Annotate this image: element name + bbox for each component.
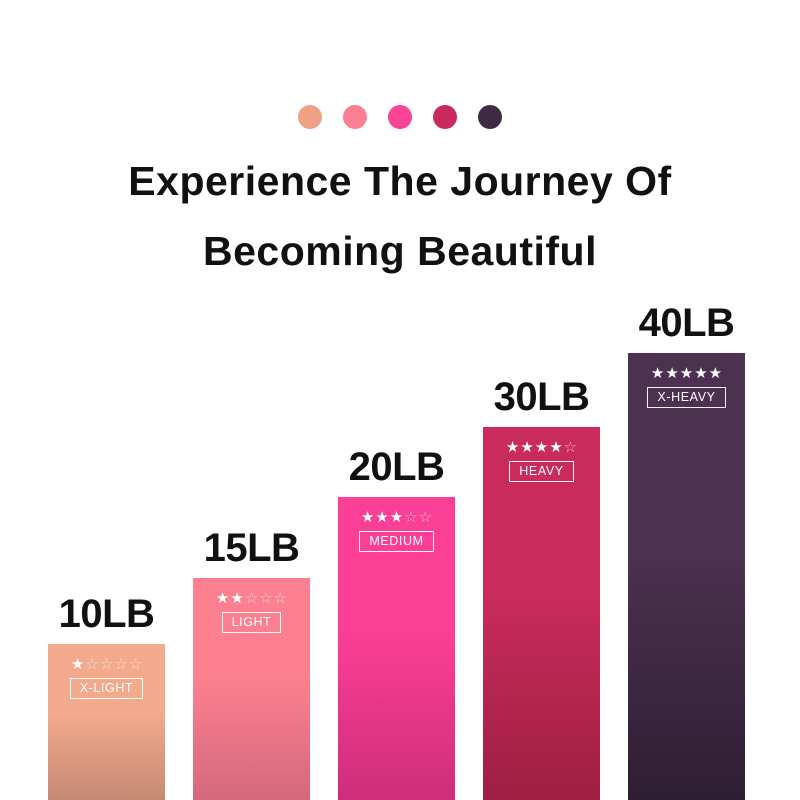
star-empty-icon: ☆: [114, 657, 127, 672]
bar-content: ★★☆☆☆LIGHT: [193, 591, 310, 633]
star-filled-icon: ★: [651, 366, 664, 381]
bar-group: 40LB★★★★★X-HEAVY: [628, 295, 745, 800]
bar-column: ★★☆☆☆LIGHT: [193, 578, 310, 800]
star-empty-icon: ☆: [564, 440, 577, 455]
bar-group: 30LB★★★★☆HEAVY: [483, 369, 600, 800]
bar-column: ★★★★☆HEAVY: [483, 427, 600, 800]
bar-weight-label: 30LB: [483, 377, 600, 417]
star-filled-icon: ★: [71, 657, 84, 672]
bar-weight-label: 20LB: [338, 447, 455, 487]
bar-group: 15LB★★☆☆☆LIGHT: [193, 520, 310, 800]
level-badge: HEAVY: [509, 461, 573, 482]
bar-column: ★☆☆☆☆X-LIGHT: [48, 644, 165, 800]
star-empty-icon: ☆: [245, 591, 258, 606]
star-empty-icon: ☆: [259, 591, 272, 606]
bar-content: ★★★☆☆MEDIUM: [338, 510, 455, 552]
star-empty-icon: ☆: [274, 591, 287, 606]
star-filled-icon: ★: [216, 591, 229, 606]
bar-content: ★★★★☆HEAVY: [483, 440, 600, 482]
star-filled-icon: ★: [694, 366, 707, 381]
star-empty-icon: ☆: [100, 657, 113, 672]
bar-column: ★★★☆☆MEDIUM: [338, 497, 455, 800]
star-rating: ★☆☆☆☆: [71, 657, 142, 672]
level-badge: LIGHT: [222, 612, 282, 633]
star-rating: ★★☆☆☆: [216, 591, 287, 606]
level-badge: X-HEAVY: [647, 387, 725, 408]
star-filled-icon: ★: [549, 440, 562, 455]
resistance-band-bar-chart: 10LB★☆☆☆☆X-LIGHT15LB★★☆☆☆LIGHT20LB★★★☆☆M…: [0, 0, 800, 800]
star-filled-icon: ★: [361, 510, 374, 525]
level-badge: MEDIUM: [359, 531, 433, 552]
bar-content: ★★★★★X-HEAVY: [628, 366, 745, 408]
bar-fill: [628, 353, 745, 800]
star-filled-icon: ★: [680, 366, 693, 381]
star-empty-icon: ☆: [419, 510, 432, 525]
promo-graphic: Experience The Journey Of Becoming Beaut…: [0, 0, 800, 800]
star-filled-icon: ★: [520, 440, 533, 455]
star-filled-icon: ★: [535, 440, 548, 455]
star-empty-icon: ☆: [404, 510, 417, 525]
bar-weight-label: 40LB: [628, 303, 745, 343]
level-badge: X-LIGHT: [70, 678, 144, 699]
star-filled-icon: ★: [665, 366, 678, 381]
bar-weight-label: 15LB: [193, 528, 310, 568]
star-filled-icon: ★: [230, 591, 243, 606]
star-empty-icon: ☆: [129, 657, 142, 672]
bar-group: 10LB★☆☆☆☆X-LIGHT: [48, 586, 165, 800]
star-empty-icon: ☆: [85, 657, 98, 672]
bar-fill: [483, 427, 600, 800]
star-rating: ★★★☆☆: [361, 510, 432, 525]
bar-column: ★★★★★X-HEAVY: [628, 353, 745, 800]
bar-weight-label: 10LB: [48, 594, 165, 634]
star-rating: ★★★★★: [651, 366, 722, 381]
star-filled-icon: ★: [390, 510, 403, 525]
bar-content: ★☆☆☆☆X-LIGHT: [48, 657, 165, 699]
star-filled-icon: ★: [709, 366, 722, 381]
star-filled-icon: ★: [506, 440, 519, 455]
star-filled-icon: ★: [375, 510, 388, 525]
star-rating: ★★★★☆: [506, 440, 577, 455]
bar-group: 20LB★★★☆☆MEDIUM: [338, 439, 455, 800]
